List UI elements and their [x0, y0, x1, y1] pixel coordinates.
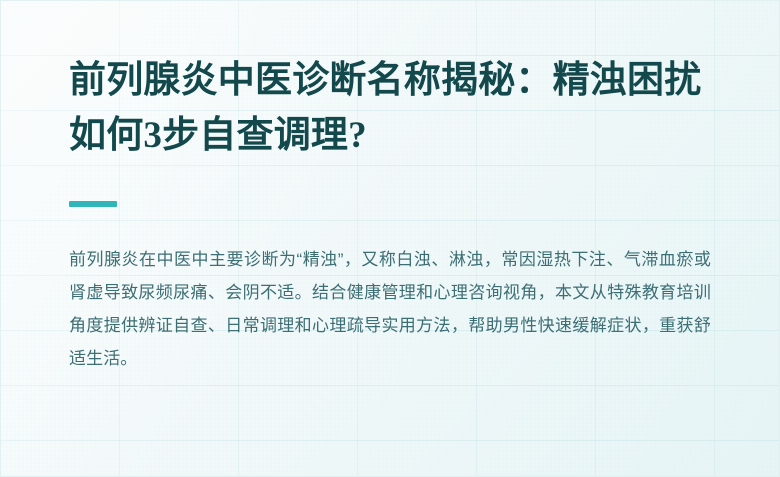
article-hero-card: 前列腺炎中医诊断名称揭秘：精浊困扰如何3步自查调理? 前列腺炎在中医中主要诊断为…: [0, 0, 780, 477]
page-title: 前列腺炎中医诊断名称揭秘：精浊困扰如何3步自查调理?: [69, 1, 711, 163]
article-summary: 前列腺炎在中医中主要诊断为“精浊”，又称白浊、淋浊，常因湿热下注、气滞血瘀或肾虚…: [69, 207, 711, 375]
hero-content-wrapper: 前列腺炎中医诊断名称揭秘：精浊困扰如何3步自查调理? 前列腺炎在中医中主要诊断为…: [1, 1, 779, 375]
